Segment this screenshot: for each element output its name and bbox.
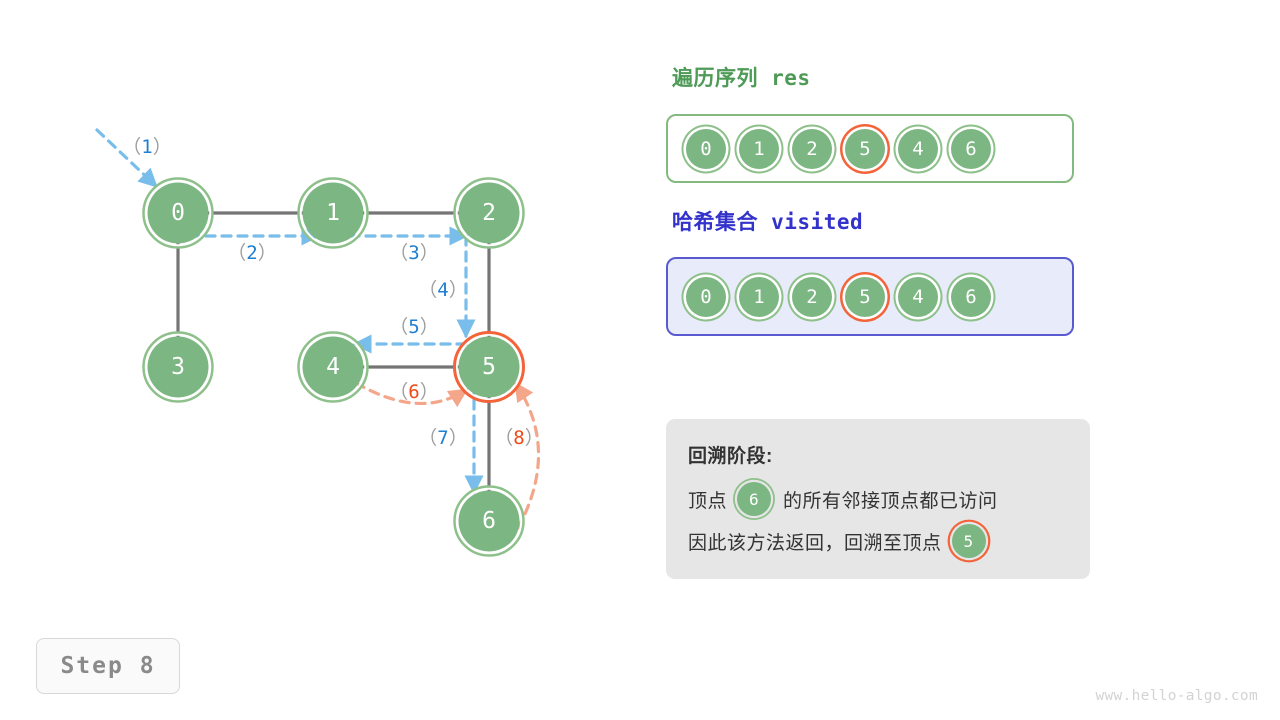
- order-label-2-num: 2: [246, 242, 257, 264]
- visited-item-3: 5: [845, 277, 885, 317]
- order-label-8-close: ）: [525, 427, 544, 449]
- graph-node-1[interactable]: 1: [299, 179, 368, 248]
- res-item-0: 0: [686, 129, 726, 169]
- res-item-2: 2: [792, 129, 832, 169]
- order-label-1-open: （: [122, 136, 141, 158]
- svg-text:（5）: （5）: [389, 316, 438, 338]
- visited-item-4: 4: [898, 277, 938, 317]
- svg-text:（7）: （7）: [418, 427, 467, 449]
- order-label-7-num: 7: [437, 427, 448, 449]
- info-panel: 遍历序列 res 0 1 2 5 4 6 哈希集合 visited 0 1 2 …: [666, 0, 1280, 720]
- graph-node-0[interactable]: 0: [144, 179, 213, 248]
- svg-text:（6）: （6）: [389, 381, 438, 403]
- graph-node-3-label: 3: [171, 354, 185, 380]
- graph-nodes: 0 1 2 3 4 5: [144, 179, 524, 556]
- graph-node-5[interactable]: 5: [455, 333, 524, 402]
- graph-node-1-label: 1: [326, 200, 340, 226]
- visited-title: 哈希集合 visited: [672, 206, 863, 236]
- order-label-8-num: 8: [513, 427, 524, 449]
- order-label-3-close: ）: [420, 242, 439, 264]
- order-label-6-close: ）: [420, 381, 439, 403]
- order-label-7-close: ）: [449, 427, 468, 449]
- order-label-6-open: （: [389, 381, 408, 403]
- svg-text:（4）: （4）: [418, 279, 467, 301]
- graph-node-6-label: 6: [482, 508, 496, 534]
- order-label-6-num: 6: [408, 381, 419, 403]
- graph-node-4-label: 4: [326, 354, 340, 380]
- order-label-5-open: （: [389, 316, 408, 338]
- order-label-3-num: 3: [408, 242, 419, 264]
- order-label-2-close: ）: [258, 242, 277, 264]
- visited-box: 0 1 2 5 4 6: [666, 257, 1074, 336]
- res-item-4: 4: [898, 129, 938, 169]
- graph-node-2[interactable]: 2: [455, 179, 524, 248]
- order-label-5-num: 5: [408, 316, 419, 338]
- graph-node-4[interactable]: 4: [299, 333, 368, 402]
- explanation-line-1-suffix: 的所有邻接顶点都已访问: [783, 486, 998, 513]
- graph-node-3[interactable]: 3: [144, 333, 213, 402]
- svg-text:（1）: （1）: [122, 136, 171, 158]
- res-box: 0 1 2 5 4 6: [666, 114, 1074, 183]
- visited-item-5: 6: [951, 277, 991, 317]
- svg-text:（8）: （8）: [494, 427, 543, 449]
- graph-node-2-label: 2: [482, 200, 496, 226]
- order-label-5: （5）: [389, 316, 438, 338]
- step-badge: Step 8: [36, 638, 180, 694]
- res-item-5: 6: [951, 129, 991, 169]
- order-label-4: （4）: [418, 279, 467, 301]
- explanation-token-6: 6: [737, 482, 771, 516]
- graph-canvas: 0 1 2 3 4 5: [0, 0, 660, 720]
- graph-node-6[interactable]: 6: [455, 487, 524, 556]
- order-label-7: （7）: [418, 427, 467, 449]
- order-label-4-num: 4: [437, 279, 448, 301]
- order-label-3-open: （: [389, 242, 408, 264]
- explanation-line-2: 因此该方法返回，回溯至顶点 5: [688, 524, 1068, 558]
- order-label-3: （3）: [389, 242, 438, 264]
- order-label-4-close: ）: [449, 279, 468, 301]
- order-label-2: （2）: [227, 242, 276, 264]
- res-item-3: 5: [845, 129, 885, 169]
- explanation-token-5: 5: [952, 524, 986, 558]
- visited-item-0: 0: [686, 277, 726, 317]
- watermark: www.hello-algo.com: [1095, 688, 1258, 704]
- explanation-line-1: 顶点 6 的所有邻接顶点都已访问: [688, 482, 1068, 516]
- res-title: 遍历序列 res: [672, 62, 811, 92]
- visited-item-1: 1: [739, 277, 779, 317]
- order-label-8-open: （: [494, 427, 513, 449]
- svg-text:（3）: （3）: [389, 242, 438, 264]
- order-label-6: （6）: [389, 381, 438, 403]
- explanation-line-2-prefix: 因此该方法返回，回溯至顶点: [688, 528, 942, 555]
- order-label-1-close: ）: [153, 136, 172, 158]
- order-label-4-open: （: [418, 279, 437, 301]
- res-item-1: 1: [739, 129, 779, 169]
- order-label-7-open: （: [418, 427, 437, 449]
- order-label-2-open: （: [227, 242, 246, 264]
- svg-text:（2）: （2）: [227, 242, 276, 264]
- order-label-1: （1）: [122, 136, 171, 158]
- explanation-line-1-prefix: 顶点: [688, 486, 727, 513]
- graph-node-5-label: 5: [482, 354, 496, 380]
- order-label-5-close: ）: [420, 316, 439, 338]
- graph-node-0-label: 0: [171, 200, 185, 226]
- visited-item-2: 2: [792, 277, 832, 317]
- explanation-heading: 回溯阶段:: [688, 441, 1068, 468]
- order-label-8: （8）: [494, 427, 543, 449]
- explanation-card: 回溯阶段: 顶点 6 的所有邻接顶点都已访问 因此该方法返回，回溯至顶点 5: [666, 419, 1090, 579]
- order-label-1-num: 1: [141, 136, 152, 158]
